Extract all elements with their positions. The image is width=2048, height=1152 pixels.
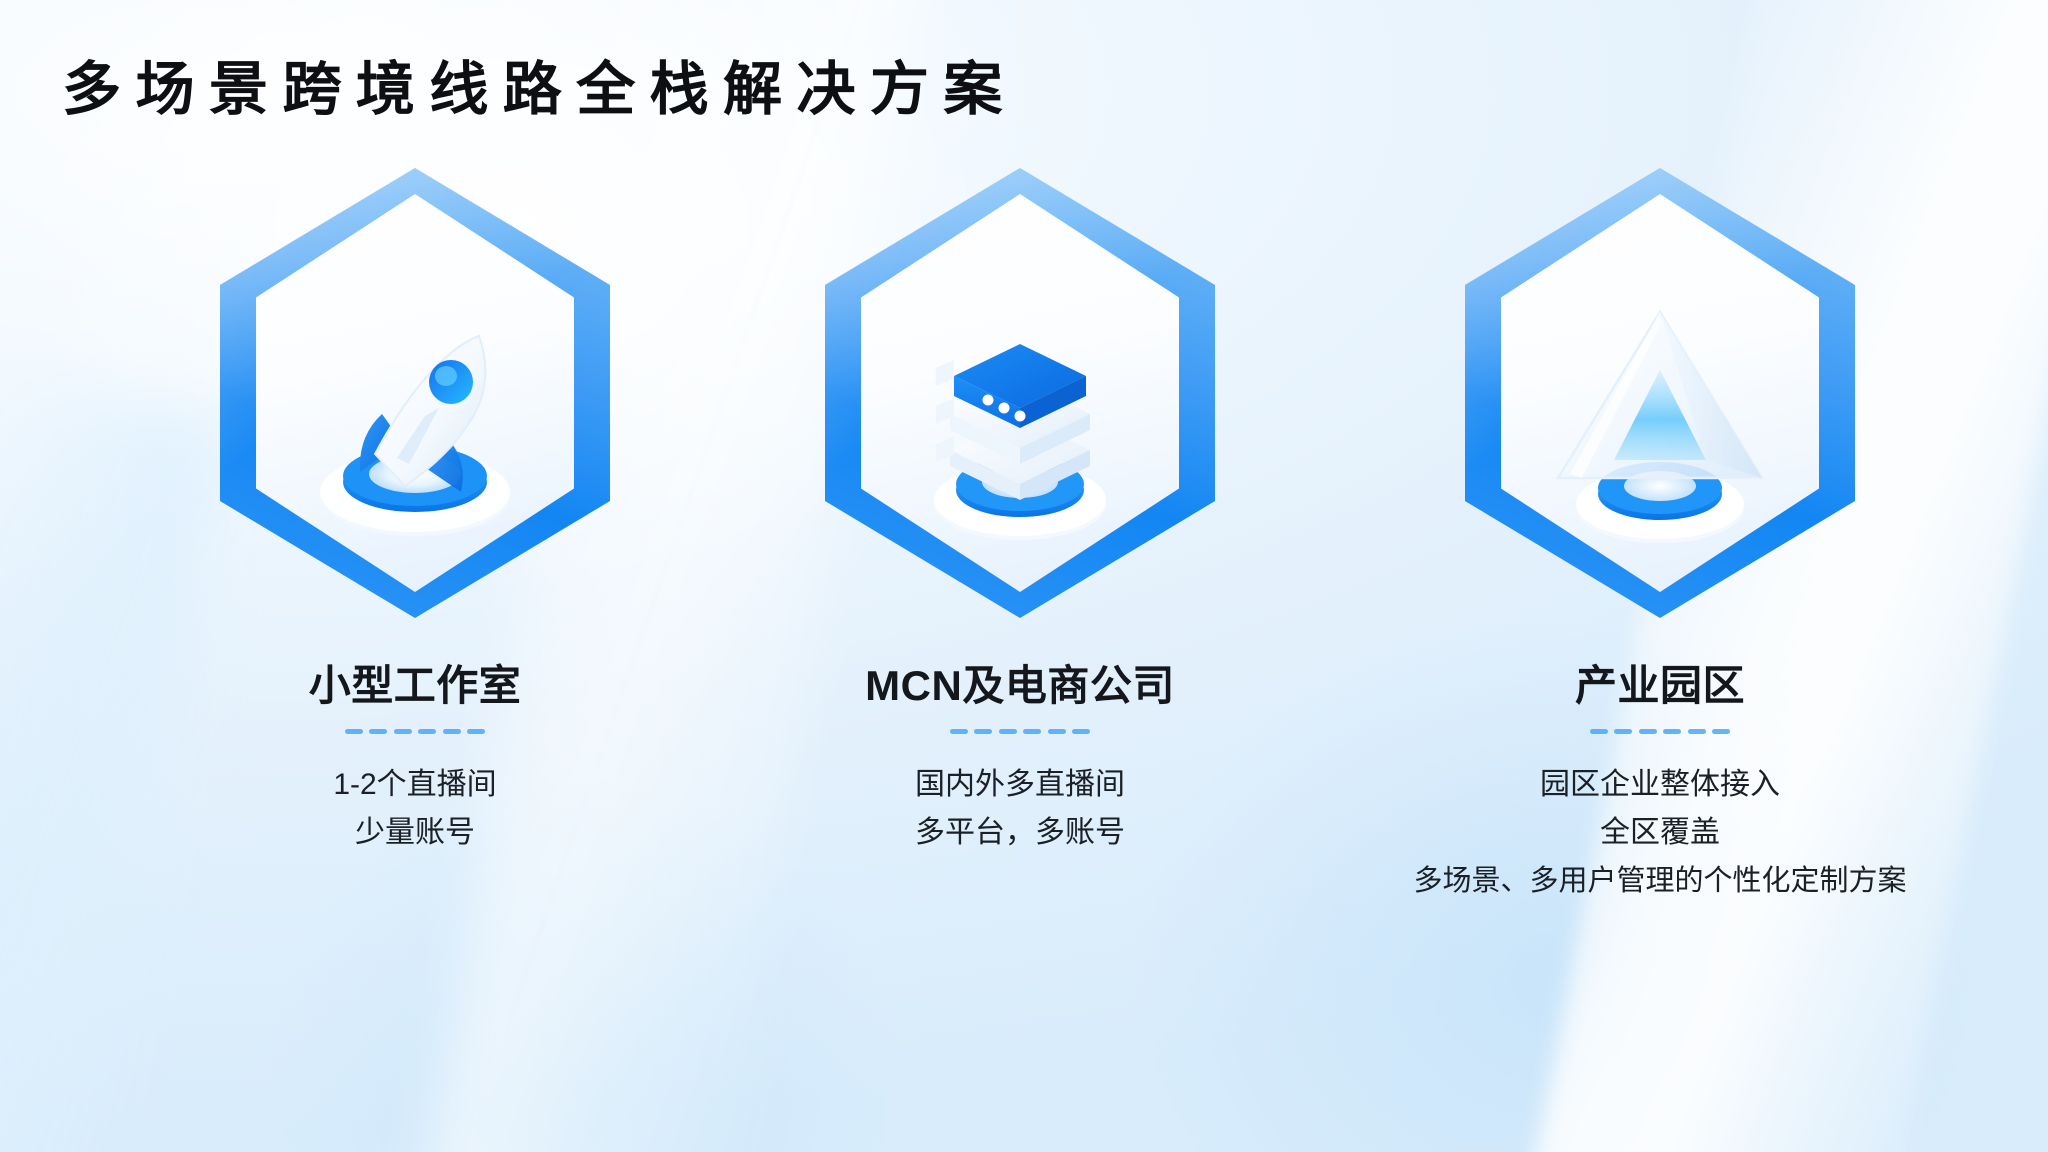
server-stack-hexagon-icon xyxy=(870,264,1170,564)
card-line: 多平台，多账号 xyxy=(710,809,1330,858)
card-line: 少量账号 xyxy=(105,809,725,858)
card-title: 小型工作室 xyxy=(105,660,725,713)
card-line: 园区企业整体接入 xyxy=(1350,761,1970,810)
card-title: MCN及电商公司 xyxy=(710,660,1330,713)
card-description: 1-2个直播间 少量账号 xyxy=(105,761,725,858)
card-line: 全区覆盖 xyxy=(1350,809,1970,858)
hexagon-badge xyxy=(205,168,625,636)
rocket-hexagon-icon xyxy=(265,264,565,564)
card-description: 园区企业整体接入 全区覆盖 多场景、多用户管理的个性化定制方案 xyxy=(1350,761,1970,905)
card-line: 1-2个直播间 xyxy=(105,761,725,810)
page-title: 多场景跨境线路全栈解决方案 xyxy=(62,57,1017,124)
card-title: 产业园区 xyxy=(1350,660,1970,713)
solution-card-group: 小型工作室 1-2个直播间 少量账号 xyxy=(0,168,2048,1108)
card-divider xyxy=(345,729,485,735)
hexagon-badge xyxy=(1450,168,1870,636)
solution-card-mcn-ecommerce[interactable]: MCN及电商公司 国内外多直播间 多平台，多账号 xyxy=(710,168,1330,858)
card-line: 多场景、多用户管理的个性化定制方案 xyxy=(1350,858,1970,905)
solution-card-small-studio[interactable]: 小型工作室 1-2个直播间 少量账号 xyxy=(105,168,725,858)
glass-pyramid-hexagon-icon xyxy=(1510,264,1810,564)
card-divider xyxy=(950,729,1090,735)
solution-card-industrial-park[interactable]: 产业园区 园区企业整体接入 全区覆盖 多场景、多用户管理的个性化定制方案 xyxy=(1350,168,1970,905)
card-description: 国内外多直播间 多平台，多账号 xyxy=(710,761,1330,858)
card-divider xyxy=(1590,729,1730,735)
card-line: 国内外多直播间 xyxy=(710,761,1330,810)
hexagon-badge xyxy=(810,168,1230,636)
